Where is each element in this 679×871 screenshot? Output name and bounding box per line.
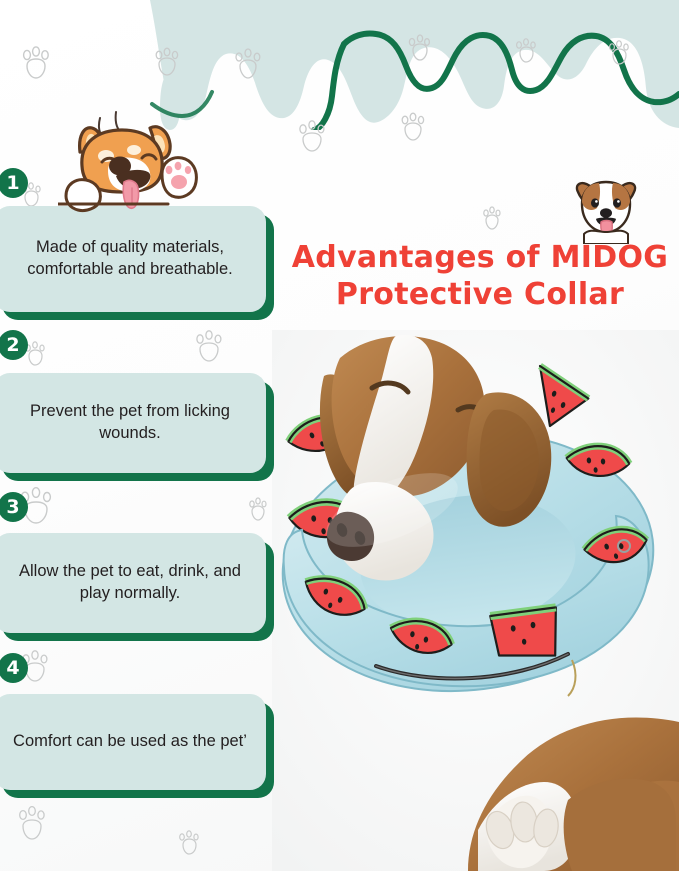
paw-print-icon: [246, 497, 270, 525]
feature-box-4: Comfort can be used as the pet’: [0, 694, 266, 790]
feature-box-2: Prevent the pet from licking wounds.: [0, 373, 266, 473]
paw-print-icon: [18, 46, 54, 86]
feature-text-4: Comfort can be used as the pet’: [0, 694, 266, 790]
infographic-page: Advantages of MIDOG Protective Collar 1 …: [0, 0, 679, 871]
paw-print-icon: [480, 206, 504, 234]
paw-print-icon: [513, 38, 539, 68]
paw-print-icon: [398, 112, 428, 146]
feature-text-3: Allow the pet to eat, drink, and play no…: [0, 533, 266, 633]
paw-print-icon: [295, 120, 329, 158]
jack-russell-terrier-face-icon: [566, 176, 646, 249]
dog-wearing-watermelon-collar-photo: [272, 330, 679, 871]
paw-print-icon: [232, 48, 264, 84]
paw-print-icon: [406, 34, 434, 66]
shiba-inu-waving-icon: [58, 96, 198, 221]
paw-print-icon: [152, 47, 182, 81]
paw-print-icon: [606, 40, 632, 70]
title-line-2: Protective Collar: [290, 277, 670, 314]
feature-text-2: Prevent the pet from licking wounds.: [0, 373, 266, 473]
feature-box-1: Made of quality materials, comfortable a…: [0, 206, 266, 312]
page-title: Advantages of MIDOG Protective Collar: [290, 240, 670, 313]
paw-print-icon: [176, 830, 202, 858]
paw-print-icon: [192, 330, 226, 368]
paw-print-icon: [14, 806, 50, 846]
feature-box-3: Allow the pet to eat, drink, and play no…: [0, 533, 266, 633]
feature-text-1: Made of quality materials, comfortable a…: [0, 206, 266, 312]
